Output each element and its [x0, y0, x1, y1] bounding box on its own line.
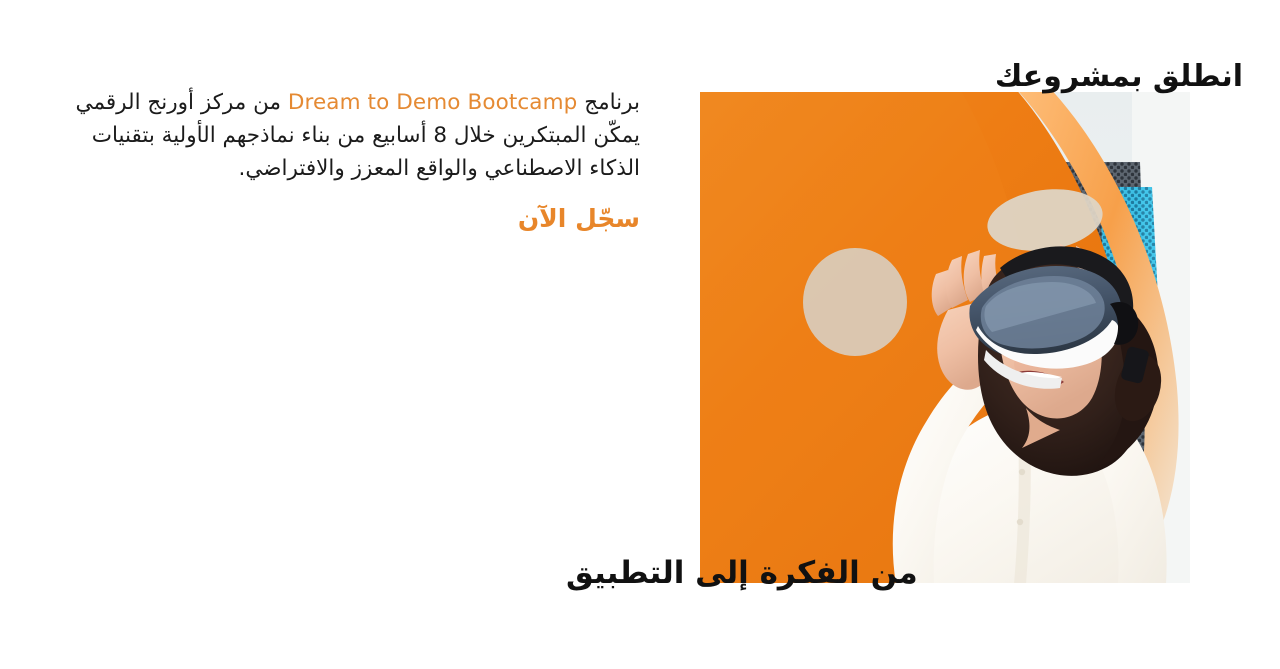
lede-paragraph: برنامج Dream to Demo Bootcamp من مركز أو…	[45, 86, 640, 185]
hero-photo	[700, 92, 1190, 583]
headline-bottom-left: من الفكرة إلى التطبيق	[566, 552, 918, 594]
program-brand-name: Dream to Demo Bootcamp	[288, 86, 578, 119]
copy-block: برنامج Dream to Demo Bootcamp من مركز أو…	[45, 86, 640, 236]
register-now-link[interactable]: سجّل الآن	[45, 202, 640, 236]
slide-canvas: برنامج Dream to Demo Bootcamp من مركز أو…	[0, 0, 1280, 669]
headline-top-right: انطلق بمشروعك	[995, 57, 1243, 97]
lede-text-before-brand: برنامج	[577, 90, 640, 115]
vr-headset-photo-illustration	[700, 92, 1190, 583]
